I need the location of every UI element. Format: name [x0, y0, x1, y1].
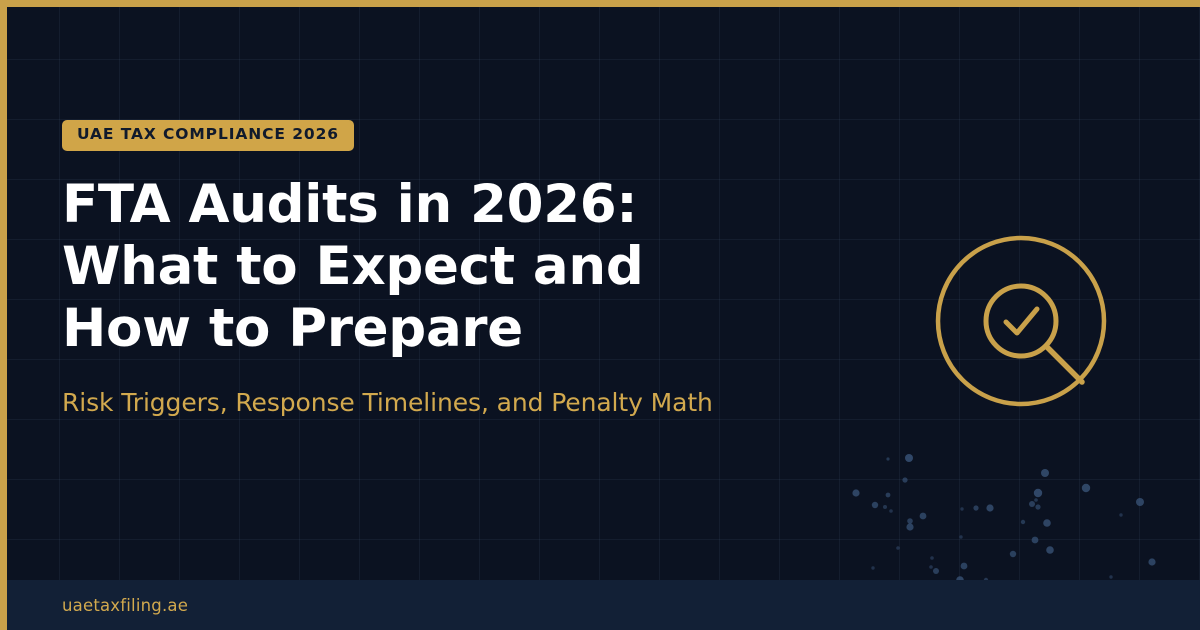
footer-bar: uaetaxfiling.ae — [7, 580, 1200, 630]
magnifier-handle — [1043, 343, 1082, 382]
magnifier-check-emblem — [930, 230, 1112, 412]
site-url: uaetaxfiling.ae — [62, 596, 188, 615]
left-accent-rule — [0, 0, 7, 630]
page-subtitle: Risk Triggers, Response Timelines, and P… — [62, 387, 822, 418]
content-block: UAE TAX COMPLIANCE 2026 FTA Audits in 20… — [62, 0, 822, 418]
social-card: UAE TAX COMPLIANCE 2026 FTA Audits in 20… — [0, 0, 1200, 630]
page-title: FTA Audits in 2026: What to Expect and H… — [62, 174, 822, 360]
eyebrow-badge: UAE TAX COMPLIANCE 2026 — [62, 120, 354, 151]
magnifier-lens — [986, 286, 1056, 356]
